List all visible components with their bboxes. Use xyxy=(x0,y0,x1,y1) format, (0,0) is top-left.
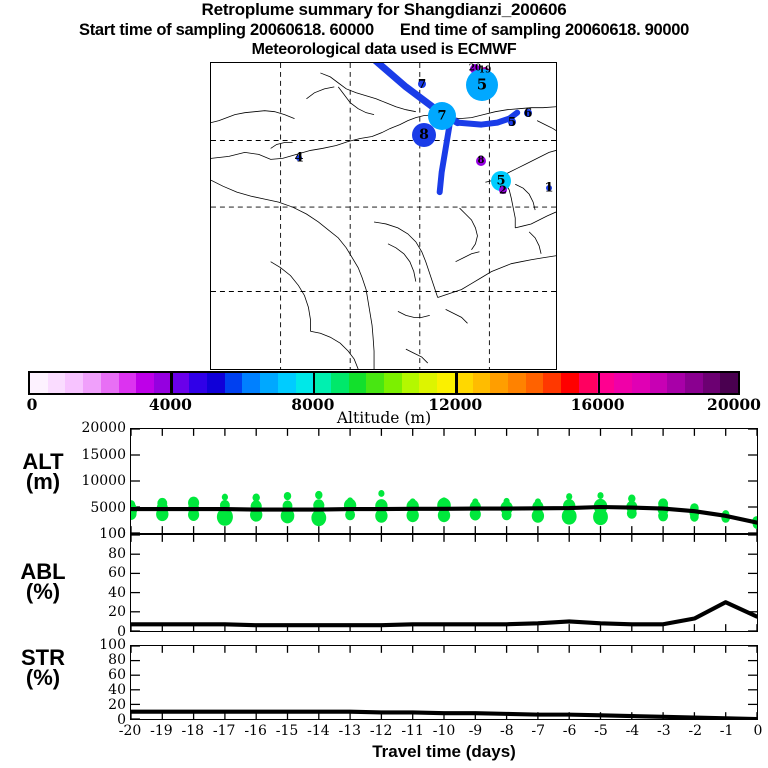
colorbar-segment xyxy=(242,373,260,393)
x-tick: -13 xyxy=(339,723,362,739)
colorbar-segment xyxy=(650,373,668,393)
alt-y-tick: 15000 xyxy=(81,447,126,463)
start-time-label: Start time of sampling 20060618. 60000 xyxy=(79,20,374,40)
colorbar-segment xyxy=(614,373,632,393)
str-y-tick: 80 xyxy=(108,652,126,668)
page-title: Retroplume summary for Shangdianzi_20060… xyxy=(0,0,768,20)
plume-circle-day-2 xyxy=(499,186,507,194)
colorbar-segment xyxy=(119,373,137,393)
x-tick: -1 xyxy=(720,723,734,739)
colorbar-divider xyxy=(455,371,458,395)
colorbar-segment xyxy=(225,373,243,393)
x-tick: -5 xyxy=(594,723,608,739)
colorbar-segment xyxy=(579,373,597,393)
map-base-svg xyxy=(211,63,556,369)
colorbar-segment xyxy=(172,373,190,393)
x-tick: -11 xyxy=(401,723,424,739)
x-tick: -6 xyxy=(563,723,577,739)
colorbar-segment xyxy=(667,373,685,393)
altitude-colorbar xyxy=(28,371,740,395)
met-data-label: Meteorological data used is ECMWF xyxy=(0,40,768,59)
colorbar-divider xyxy=(313,371,316,395)
alt-y-tick: 5000 xyxy=(90,500,126,516)
x-tick: -2 xyxy=(688,723,702,739)
plume-circle-day-7 xyxy=(418,80,426,88)
retroplume-map[interactable]: 2019567127651523133826114168415352115148… xyxy=(210,62,557,370)
str-y-tick: 100 xyxy=(99,637,126,653)
x-tick: -20 xyxy=(119,723,142,739)
colorbar-segment xyxy=(313,373,331,393)
alt-y-tick: 10000 xyxy=(81,473,126,489)
x-tick: -4 xyxy=(626,723,640,739)
colorbar-segment xyxy=(207,373,225,393)
x-tick: 0 xyxy=(754,723,763,739)
abl-y-tick: 80 xyxy=(108,546,126,562)
colorbar-segment xyxy=(296,373,314,393)
plume-circle-day-5 xyxy=(508,118,516,126)
abl-panel[interactable] xyxy=(130,534,758,632)
alt-panel[interactable] xyxy=(130,428,758,534)
colorbar-segment xyxy=(490,373,508,393)
plume-circle-day-8 xyxy=(476,156,486,166)
x-axis-tick-labels: -20-19-18-17-16-15-14-13-12-11-10-9-8-7-… xyxy=(0,723,768,741)
x-tick: -18 xyxy=(182,723,205,739)
x-tick: -14 xyxy=(307,723,330,739)
colorbar-segment xyxy=(349,373,367,393)
abl-y-tick: 40 xyxy=(108,585,126,601)
plume-circle-day-8 xyxy=(412,123,436,147)
x-tick: -10 xyxy=(433,723,456,739)
str-y-tick: 20 xyxy=(108,697,126,713)
colorbar-segment xyxy=(154,373,172,393)
plume-circle-day-6 xyxy=(524,109,532,117)
title-block: Retroplume summary for Shangdianzi_20060… xyxy=(0,0,768,59)
x-tick: -12 xyxy=(370,723,393,739)
end-time-label: End time of sampling 20060618. 90000 xyxy=(400,20,689,40)
colorbar-segment xyxy=(402,373,420,393)
x-tick: -8 xyxy=(500,723,514,739)
x-axis-title: Travel time (days) xyxy=(130,742,758,762)
str-y-tick: 60 xyxy=(108,667,126,683)
colorbar-segment xyxy=(48,373,66,393)
colorbar-segment xyxy=(685,373,703,393)
colorbar-segment xyxy=(543,373,561,393)
colorbar-segment xyxy=(83,373,101,393)
str-y-tick-labels: 100806040200 xyxy=(0,645,126,720)
colorbar-divider xyxy=(170,371,173,395)
abl-y-tick: 60 xyxy=(108,565,126,581)
x-tick: -15 xyxy=(276,723,299,739)
colorbar-segment xyxy=(260,373,278,393)
x-tick: -16 xyxy=(244,723,267,739)
colorbar-segment xyxy=(331,373,349,393)
abl-y-tick: 20 xyxy=(108,604,126,620)
abl-plot-svg xyxy=(131,535,757,631)
colorbar-segment xyxy=(189,373,207,393)
colorbar-segment xyxy=(720,373,738,393)
alt-y-tick: 20000 xyxy=(81,420,126,436)
x-tick: -19 xyxy=(150,723,173,739)
alt-y-tick-labels: 20000150001000050000 xyxy=(0,428,126,534)
colorbar-segment xyxy=(526,373,544,393)
colorbar-segment xyxy=(508,373,526,393)
x-tick: -3 xyxy=(657,723,671,739)
colorbar-divider xyxy=(598,371,601,395)
colorbar-segment xyxy=(703,373,721,393)
colorbar-segment xyxy=(384,373,402,393)
colorbar-segment xyxy=(101,373,119,393)
colorbar-segment xyxy=(473,373,491,393)
alt-plot-svg xyxy=(131,429,757,533)
colorbar-segment xyxy=(366,373,384,393)
sampling-time-row: Start time of sampling 20060618. 60000 E… xyxy=(0,20,768,40)
plume-circle-day-4 xyxy=(296,155,302,161)
x-tick: -9 xyxy=(469,723,483,739)
colorbar-segment xyxy=(632,373,650,393)
colorbar-segment xyxy=(136,373,154,393)
plume-circle-day-5 xyxy=(466,69,498,101)
colorbar-segment xyxy=(437,373,455,393)
colorbar-segment xyxy=(561,373,579,393)
colorbar-segment xyxy=(30,373,48,393)
abl-y-tick-labels: 100806040200 xyxy=(0,534,126,632)
x-tick: -7 xyxy=(531,723,545,739)
str-plot-svg xyxy=(131,646,757,719)
colorbar-segment xyxy=(278,373,296,393)
str-y-tick: 40 xyxy=(108,682,126,698)
colorbar-segment xyxy=(65,373,83,393)
x-tick: -17 xyxy=(213,723,236,739)
abl-y-tick: 100 xyxy=(99,526,126,542)
colorbar-segment xyxy=(419,373,437,393)
plume-circle-day-1 xyxy=(546,185,552,191)
str-panel[interactable] xyxy=(130,645,758,720)
